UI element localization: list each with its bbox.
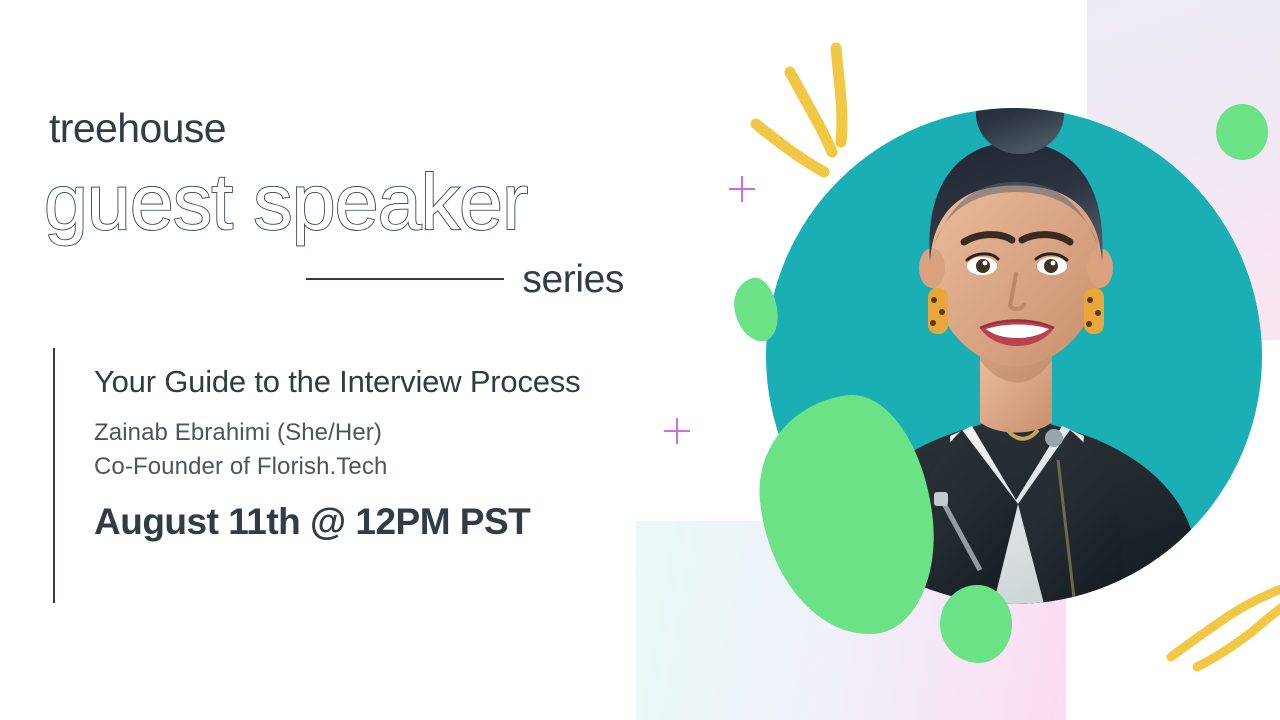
series-divider-rule xyxy=(306,278,504,280)
slide-canvas: treehouse guest speaker series Your Guid… xyxy=(0,0,1280,720)
green-blob-small-bottom xyxy=(940,585,1012,663)
portrait-illustration xyxy=(766,108,1262,604)
plus-mark-icon xyxy=(664,418,690,444)
green-dot-top-right xyxy=(1216,104,1268,160)
series-row: series xyxy=(306,256,624,302)
gradient-panel-top-right xyxy=(1087,0,1280,340)
plus-mark-icon xyxy=(729,176,755,202)
event-datetime: August 11th @ 12PM PST xyxy=(94,502,613,543)
talk-title: Your Guide to the Interview Process xyxy=(94,362,613,401)
headline-outline-text: guest speaker xyxy=(44,158,527,246)
speaker-name: Zainab Ebrahimi (She/Her) xyxy=(94,416,613,450)
speaker-role: Co-Founder of Florish.Tech xyxy=(94,450,613,484)
event-detail-block: Your Guide to the Interview Process Zain… xyxy=(53,348,613,603)
teal-circle-backdrop xyxy=(766,108,1262,604)
treehouse-wordmark: treehouse xyxy=(49,108,226,149)
speaker-portrait xyxy=(766,30,1266,650)
green-blob-large xyxy=(750,388,944,644)
green-blob-small-left xyxy=(729,274,783,345)
portrait-circle-mask xyxy=(766,108,1262,604)
gradient-panel-bottom xyxy=(636,521,1066,720)
squiggle-lines-icon xyxy=(1165,585,1280,720)
series-label: series xyxy=(522,260,624,299)
sparkle-burst-icon xyxy=(740,30,880,210)
